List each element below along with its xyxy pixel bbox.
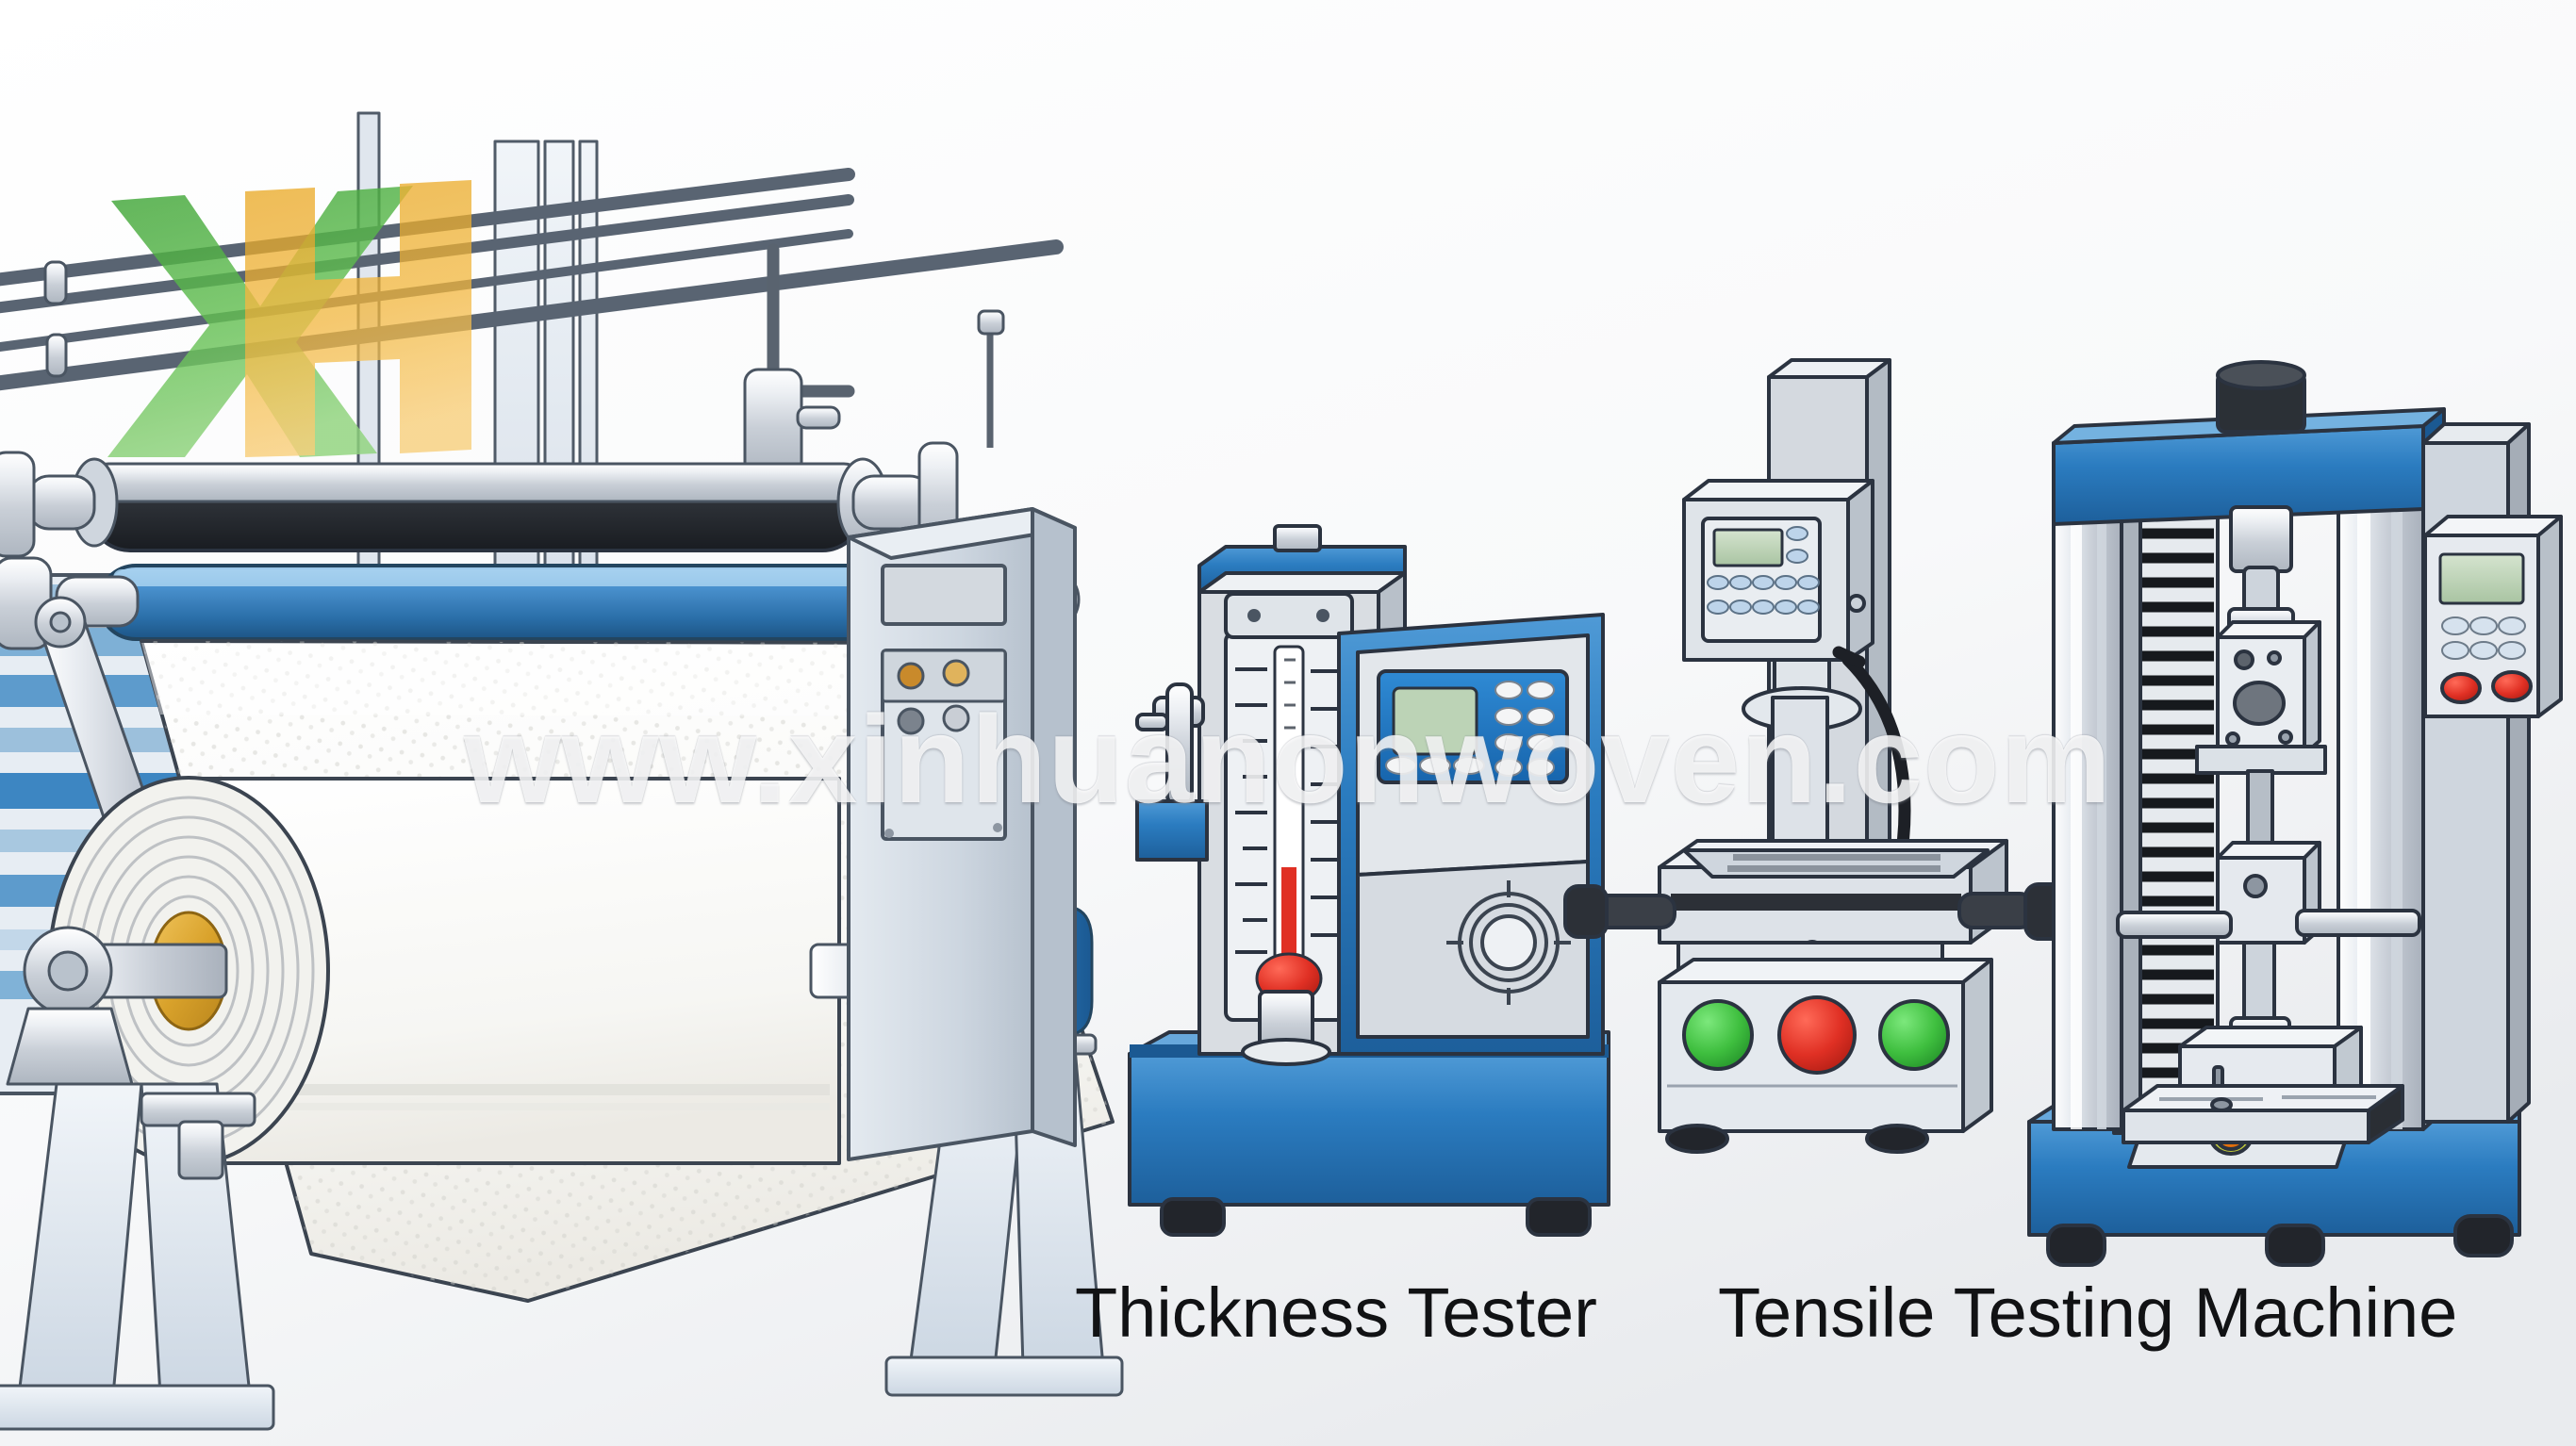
caption-thickness-tester: Thickness Tester xyxy=(1075,1273,1597,1353)
illustration-canvas: www.xinhuanonwoven.com Step 3: Post-fini… xyxy=(0,0,2576,1446)
caption-tensile-testing-machine: Tensile Testing Machine xyxy=(1718,1273,2457,1353)
thickness-tester-illustration xyxy=(1130,526,1609,1235)
xh-logo xyxy=(94,174,490,457)
